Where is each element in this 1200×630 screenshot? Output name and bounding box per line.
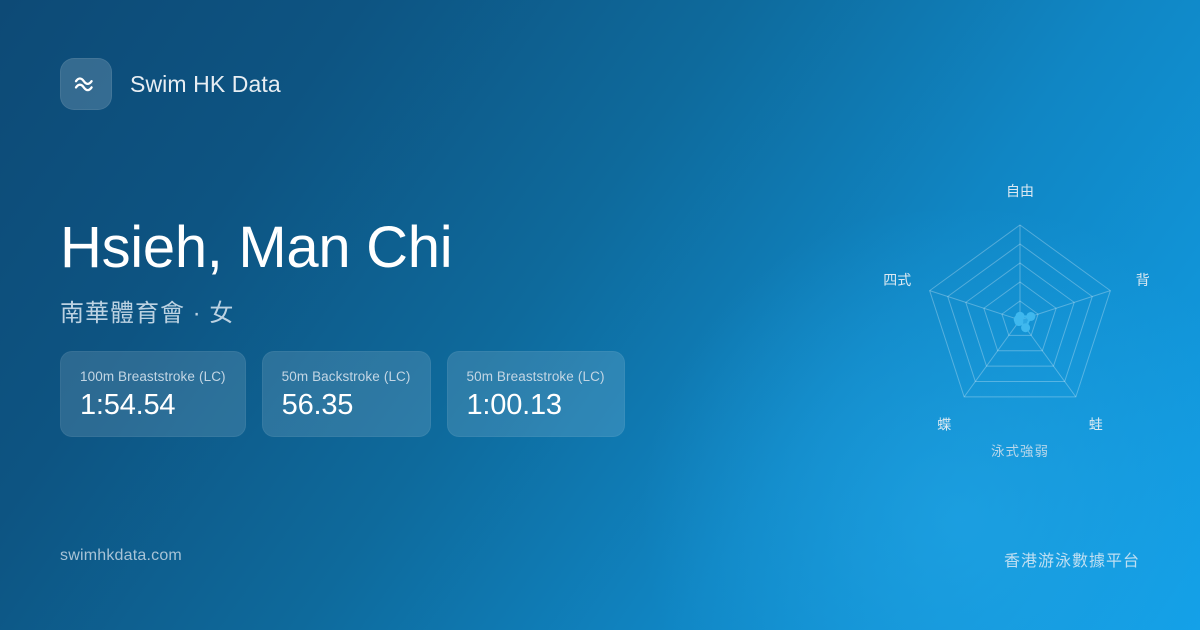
stat-course: (LC)	[578, 369, 605, 384]
radar-axis-label: 四式	[883, 272, 911, 288]
stat-event: 50m Breaststroke	[467, 369, 574, 384]
radar-axis-label: 背	[1136, 272, 1150, 288]
social-card: Swim HK Data Hsieh, Man Chi 南華體育會 · 女 10…	[0, 0, 1200, 630]
stat-label: 100m Breaststroke(LC)	[80, 369, 226, 384]
stat-card[interactable]: 50m Breaststroke(LC) 1:00.13	[447, 351, 625, 437]
radar-caption: 泳式強弱	[860, 440, 1180, 460]
radar-spokes	[930, 225, 1111, 397]
brand-logo-tile	[60, 58, 112, 110]
brand-name: Swim HK Data	[130, 71, 281, 98]
stat-value: 1:00.13	[467, 391, 605, 420]
radar-point	[1026, 312, 1035, 321]
radar-svg: 自由背蛙蝶四式	[860, 165, 1180, 475]
radar-axis-label: 蛙	[1089, 416, 1103, 432]
footer-site-url: swimhkdata.com	[60, 547, 182, 565]
page-title: Hsieh, Man Chi	[60, 218, 760, 279]
stat-course: (LC)	[384, 369, 411, 384]
footer-tagline: 香港游泳數據平台	[1004, 547, 1140, 571]
stat-event: 100m Breaststroke	[80, 369, 195, 384]
radar-point	[1021, 323, 1030, 332]
brand-header: Swim HK Data	[60, 58, 281, 110]
radar-axis-label: 蝶	[937, 416, 951, 432]
stat-card-list: 100m Breaststroke(LC) 1:54.54 50m Backst…	[60, 351, 625, 437]
stat-card[interactable]: 50m Backstroke(LC) 56.35	[262, 351, 431, 437]
stat-value: 1:54.54	[80, 391, 226, 420]
wave-approx-icon	[71, 69, 101, 99]
stat-course: (LC)	[199, 369, 226, 384]
athlete-meta: 南華體育會 · 女	[60, 293, 760, 328]
stat-value: 56.35	[282, 391, 411, 420]
radar-point	[1014, 315, 1023, 324]
stat-card[interactable]: 100m Breaststroke(LC) 1:54.54	[60, 351, 246, 437]
athlete-hero: Hsieh, Man Chi 南華體育會 · 女	[60, 218, 760, 328]
stat-event: 50m Backstroke	[282, 369, 380, 384]
radar-axis-labels: 自由背蛙蝶四式	[883, 183, 1149, 432]
radar-chart: 自由背蛙蝶四式 泳式強弱	[860, 165, 1180, 475]
radar-axis-label: 自由	[1006, 183, 1034, 199]
stat-label: 50m Backstroke(LC)	[282, 369, 411, 384]
stat-label: 50m Breaststroke(LC)	[467, 369, 605, 384]
